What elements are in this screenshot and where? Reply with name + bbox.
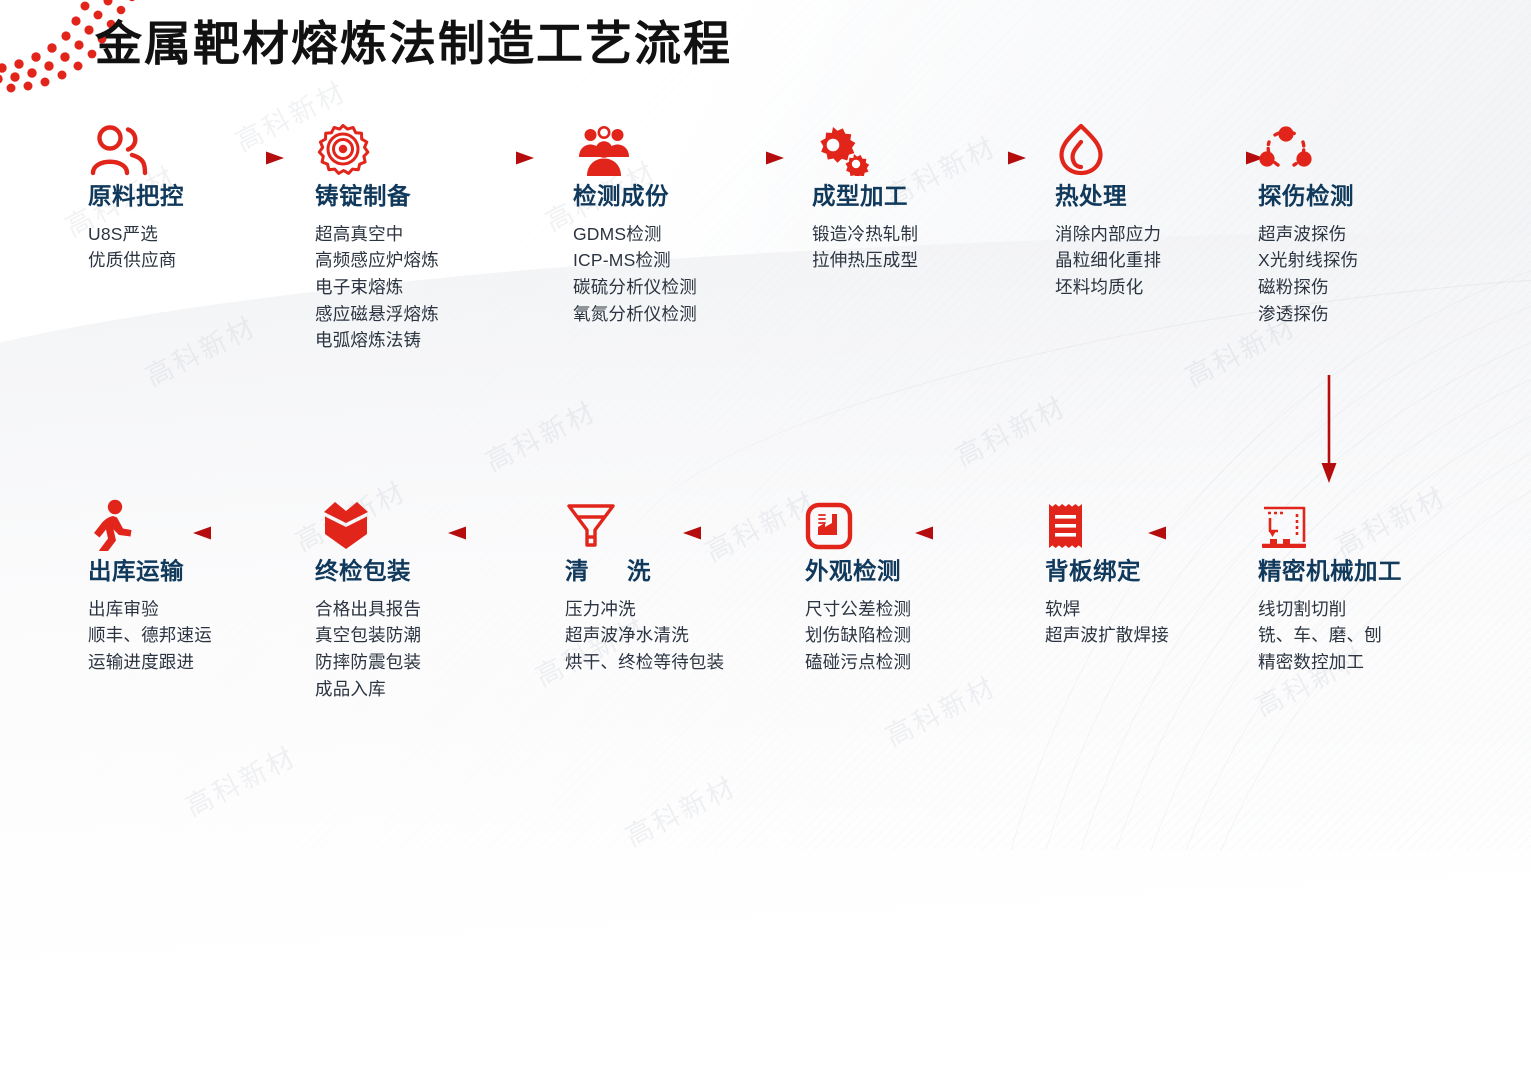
list-item: 氧氮分析仪检测 xyxy=(573,301,823,328)
flow-step-title: 出库运输 xyxy=(88,559,338,585)
flow-step-6[interactable]: 探伤检测 超声波探伤 X光射线探伤 磁粉探伤 渗透探伤 xyxy=(1258,118,1508,327)
list-item: 合格出具报告 xyxy=(315,596,565,623)
flow-step-7[interactable]: 精密机械加工 线切割切削 铣、车、磨、刨 精密数控加工 xyxy=(1258,493,1531,676)
list-item: U8S严选 xyxy=(88,221,338,248)
walking-person-icon xyxy=(88,493,338,551)
flow-step-title: 铸锭制备 xyxy=(315,184,565,210)
flow-step-title: 原料把控 xyxy=(88,184,338,210)
flow-step-title: 精密机械加工 xyxy=(1258,559,1531,585)
flow-step-title: 终检包装 xyxy=(315,559,565,585)
list-item: 超高真空中 xyxy=(315,221,565,248)
list-item: 压力冲洗 xyxy=(565,596,815,623)
flow-step-title: 清 洗 xyxy=(565,559,815,585)
list-item: 高频感应炉熔炼 xyxy=(315,247,565,274)
list-item: 超声波探伤 xyxy=(1258,221,1508,248)
list-item: 划伤缺陷检测 xyxy=(805,622,1055,649)
list-item: 优质供应商 xyxy=(88,247,338,274)
flow-step-1[interactable]: 原料把控 U8S严选 优质供应商 xyxy=(88,118,338,274)
list-item: 尺寸公差检测 xyxy=(805,596,1055,623)
arrow-step1-to-step2 xyxy=(188,150,284,166)
list-item: 超声波净水清洗 xyxy=(565,622,815,649)
flow-step-items: 超声波探伤 X光射线探伤 磁粉探伤 渗透探伤 xyxy=(1258,221,1508,327)
flow-step-4[interactable]: 成型加工 锻造冷热轧制 拉伸热压成型 xyxy=(812,118,1062,274)
flow-step-12[interactable]: 出库运输 出库审验 顺丰、德邦速运 运输进度跟进 xyxy=(88,493,338,676)
flow-step-10[interactable]: 清 洗 压力冲洗 超声波净水清洗 烘干、终检等待包装 xyxy=(565,493,815,676)
list-item: 磕碰污点检测 xyxy=(805,649,1055,676)
list-item: 碳硫分析仪检测 xyxy=(573,274,823,301)
flow-step-title: 外观检测 xyxy=(805,559,1055,585)
list-item: 磁粉探伤 xyxy=(1258,274,1508,301)
people-group-icon xyxy=(573,118,823,176)
list-item: ICP-MS检测 xyxy=(573,247,823,274)
flow-step-items: 线切割切削 铣、车、磨、刨 精密数控加工 xyxy=(1258,596,1531,676)
flow-row-bottom: 出库运输 出库审验 顺丰、德邦速运 运输进度跟进 终检包装 合格出具报告 真空包… xyxy=(0,493,1531,743)
flow-step-9[interactable]: 外观检测 尺寸公差检测 划伤缺陷检测 磕碰污点检测 xyxy=(805,493,1055,676)
list-item: 感应磁悬浮熔炼 xyxy=(315,301,565,328)
flow-step-items: 出库审验 顺丰、德邦速运 运输进度跟进 xyxy=(88,596,338,676)
flow-step-items: 压力冲洗 超声波净水清洗 烘干、终检等待包装 xyxy=(565,596,815,676)
list-item: 线切割切削 xyxy=(1258,596,1531,623)
gear-icon xyxy=(315,118,565,176)
arrow-step9-to-step10 xyxy=(683,525,779,541)
arrow-step7-to-step8 xyxy=(1148,525,1244,541)
flow-step-title: 成型加工 xyxy=(812,184,1062,210)
open-box-icon xyxy=(315,493,565,551)
arrow-step5-to-step6 xyxy=(1168,150,1264,166)
list-item: 铣、车、磨、刨 xyxy=(1258,622,1531,649)
list-item: 出库审验 xyxy=(88,596,338,623)
flow-step-items: U8S严选 优质供应商 xyxy=(88,221,338,274)
list-item: 真空包装防潮 xyxy=(315,622,565,649)
page-title: 金属靶材熔炼法制造工艺流程 xyxy=(95,5,732,74)
list-item: 渗透探伤 xyxy=(1258,301,1508,328)
cnc-machine-icon xyxy=(1258,493,1531,551)
list-item: 顺丰、德邦速运 xyxy=(88,622,338,649)
list-item: 锻造冷热轧制 xyxy=(812,221,1062,248)
arrow-step6-to-step7 xyxy=(1312,375,1346,483)
list-item: 电弧熔炼法铸 xyxy=(315,327,565,354)
list-item: 电子束熔炼 xyxy=(315,274,565,301)
flow-step-title: 探伤检测 xyxy=(1258,184,1508,210)
list-item: X光射线探伤 xyxy=(1258,247,1508,274)
list-item: 精密数控加工 xyxy=(1258,649,1531,676)
factory-building-icon xyxy=(805,493,1055,551)
double-gear-icon xyxy=(812,118,1062,176)
list-item: 防摔防震包装 xyxy=(315,649,565,676)
flow-step-items: GDMS检测 ICP-MS检测 碳硫分析仪检测 氧氮分析仪检测 xyxy=(573,221,823,327)
arrow-step8-to-step9 xyxy=(915,525,1011,541)
users-icon xyxy=(88,118,338,176)
funnel-icon xyxy=(565,493,815,551)
flow-step-items: 锻造冷热轧制 拉伸热压成型 xyxy=(812,221,1062,274)
flow-step-items: 合格出具报告 真空包装防潮 防摔防震包装 成品入库 xyxy=(315,596,565,702)
arrow-step2-to-step3 xyxy=(438,150,534,166)
arrow-step11-to-step12 xyxy=(193,525,289,541)
flow-row-top: 原料把控 U8S严选 优质供应商 铸锭制备 超高真空中 高频感应炉熔炼 电子束熔… xyxy=(0,118,1531,378)
list-item: 运输进度跟进 xyxy=(88,649,338,676)
flow-step-title: 检测成份 xyxy=(573,184,823,210)
three-node-circle-icon xyxy=(1258,118,1508,176)
arrow-step10-to-step11 xyxy=(448,525,544,541)
flow-step-items: 超高真空中 高频感应炉熔炼 电子束熔炼 感应磁悬浮熔炼 电弧熔炼法铸 xyxy=(315,221,565,354)
arrow-step4-to-step5 xyxy=(930,150,1026,166)
list-item: GDMS检测 xyxy=(573,221,823,248)
list-item: 拉伸热压成型 xyxy=(812,247,1062,274)
list-item: 烘干、终检等待包装 xyxy=(565,649,733,676)
list-item: 成品入库 xyxy=(315,676,565,703)
flow-step-items: 尺寸公差检测 划伤缺陷检测 磕碰污点检测 xyxy=(805,596,1055,676)
arrow-step3-to-step4 xyxy=(688,150,784,166)
